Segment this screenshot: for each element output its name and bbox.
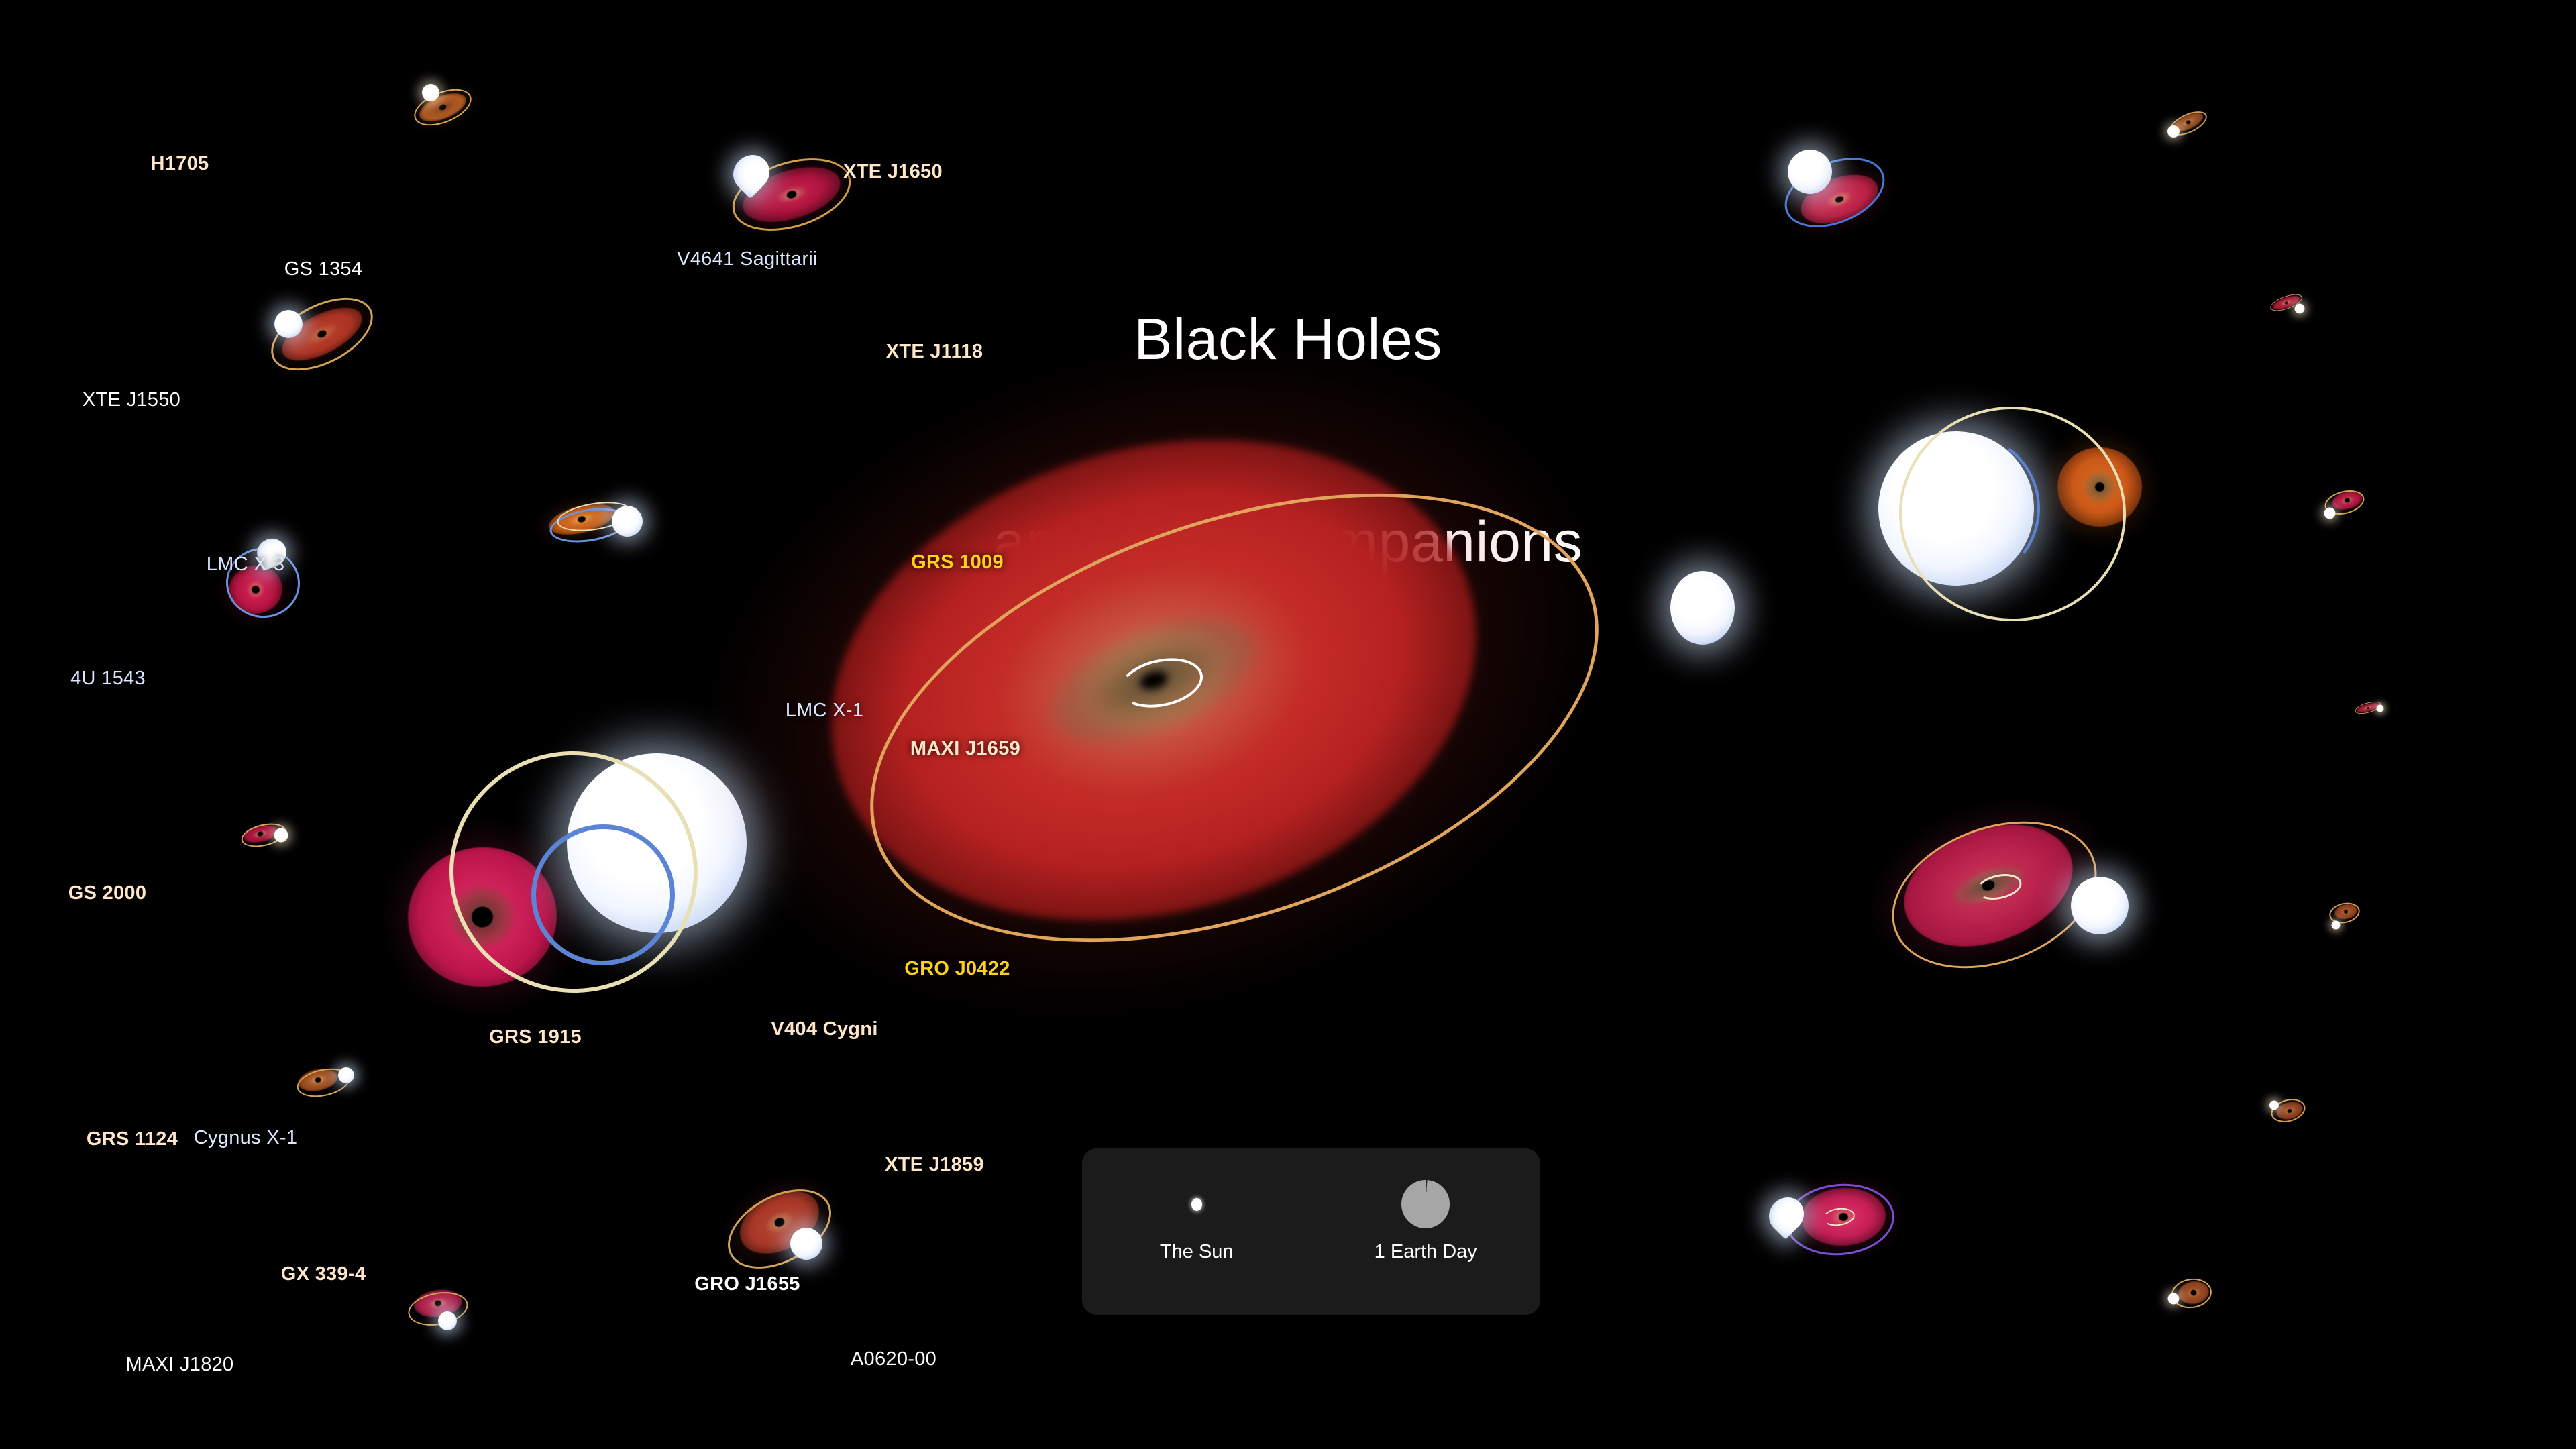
system-v4641-sagittarii[interactable] [1754, 131, 1909, 245]
companion-star [2332, 921, 2341, 930]
companion-star [2324, 507, 2336, 519]
sun-icon [1191, 1175, 1202, 1233]
black-hole-visualization: Black Holes and Their Companions H1705 G… [0, 0, 2576, 1449]
system-xte-j1650[interactable] [2149, 101, 2222, 154]
label-xte-j1650: XTE J1650 [843, 161, 943, 183]
system-lmc-x-1[interactable] [1845, 396, 2194, 664]
label-gro-j0422: GRO J0422 [904, 958, 1010, 980]
label-h1705: H1705 [151, 153, 209, 175]
system-gx-339-4[interactable] [718, 1177, 865, 1285]
label-v4641-sagittarii: V4641 Sagittarii [677, 248, 818, 270]
system-grs-1124[interactable] [285, 1050, 372, 1110]
scale-legend-panel: The Sun 1 Earth Day [1082, 1148, 1540, 1315]
system-grs-1915[interactable] [812, 402, 1818, 1033]
system-h1705[interactable] [399, 70, 486, 144]
system-a0620-00[interactable] [2153, 1268, 2226, 1322]
companion-star [1788, 150, 1832, 194]
companion-star [338, 1067, 354, 1083]
label-xte-j1859: XTE J1859 [885, 1154, 984, 1176]
label-maxi-j1820: MAXI J1820 [126, 1354, 234, 1376]
label-gs-2000: GS 2000 [68, 882, 147, 904]
companion-star [2071, 877, 2129, 934]
system-v404-cygni[interactable] [1865, 802, 2173, 1023]
companion-star [274, 310, 303, 338]
legend-day-label: 1 Earth Day [1375, 1241, 1477, 1263]
label-a0620-00: A0620-00 [851, 1348, 936, 1371]
label-gx-339-4: GX 339-4 [281, 1263, 366, 1285]
label-4u-1543: 4U 1543 [70, 667, 146, 690]
label-grs-1915: GRS 1915 [489, 1026, 582, 1049]
companion-star [438, 1311, 457, 1330]
label-xte-j1550: XTE J1550 [83, 389, 180, 411]
system-gs-2000[interactable] [228, 807, 309, 861]
companion-star [422, 84, 439, 101]
legend-item-earth-day: 1 Earth Day [1358, 1175, 1493, 1263]
label-v404-cygni: V404 Cygni [771, 1018, 877, 1040]
system-gro-j1655[interactable] [1746, 1169, 1914, 1283]
label-maxi-j1659: MAXI J1659 [910, 738, 1020, 760]
companion-star [2167, 125, 2180, 138]
companion-star [2295, 304, 2305, 314]
legend-item-sun: The Sun [1130, 1175, 1264, 1263]
companion-star [1670, 571, 1735, 645]
system-xte-j1859[interactable] [2253, 1085, 2320, 1136]
label-grs-1124: GRS 1124 [87, 1128, 178, 1150]
companion-star [274, 828, 288, 842]
companion-star [2167, 1293, 2179, 1305]
label-lmc-x-1: LMC X-1 [786, 700, 864, 722]
clock-pie-icon [1401, 1175, 1450, 1233]
system-gro-j0422[interactable] [2314, 892, 2375, 939]
system-lmc-x-3[interactable] [538, 480, 665, 567]
label-grs-1009: GRS 1009 [911, 551, 1004, 574]
system-grs-1009[interactable] [2306, 478, 2380, 531]
legend-sun-label: The Sun [1160, 1241, 1234, 1263]
system-gs-1354[interactable] [711, 138, 872, 252]
system-maxi-j1820[interactable] [393, 1278, 487, 1345]
system-xte-j1118[interactable] [2255, 280, 2322, 327]
label-cygnus-x-1: Cygnus X-1 [194, 1127, 298, 1149]
companion-star [612, 506, 643, 537]
companion-star [2269, 1101, 2279, 1110]
companion-star [790, 1228, 822, 1260]
label-xte-j1118: XTE J1118 [886, 341, 983, 363]
label-lmc-x-3: LMC X-3 [207, 553, 285, 576]
system-xte-j1550[interactable] [252, 284, 392, 384]
system-4u-1543[interactable] [199, 520, 327, 641]
label-gro-j1655: GRO J1655 [694, 1273, 800, 1295]
system-maxi-j1659[interactable] [2338, 688, 2398, 728]
label-gs-1354: GS 1354 [284, 258, 363, 280]
orbit-ring [2269, 1095, 2308, 1125]
companion-star [2377, 705, 2384, 712]
